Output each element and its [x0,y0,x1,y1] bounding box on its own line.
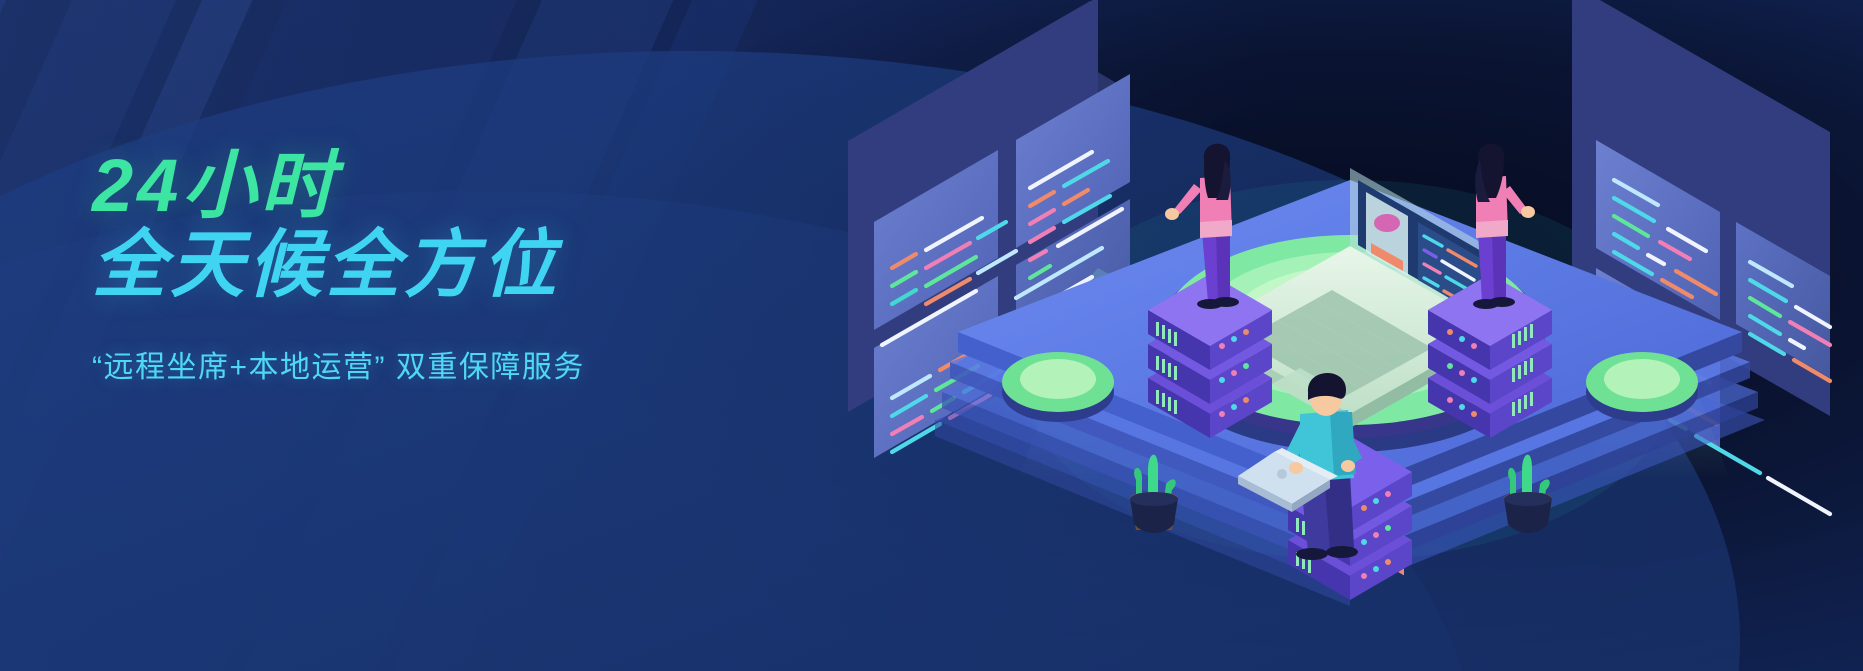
copy-block: 24小时 全天候全方位 “远程坐席+本地运营” 双重保障服务 [92,150,585,386]
subtitle: “远程坐席+本地运营” 双重保障服务 [92,342,585,386]
hero-banner: 24小时 全天候全方位 “远程坐席+本地运营” 双重保障服务 [0,0,1863,671]
headline-line-1: 24小时 [92,150,585,221]
headline-line-2: 全天候全方位 [92,229,585,300]
glow-pad-left [1002,352,1114,422]
glow-pad-right [1586,352,1698,422]
isometric-illustration [830,0,1863,671]
